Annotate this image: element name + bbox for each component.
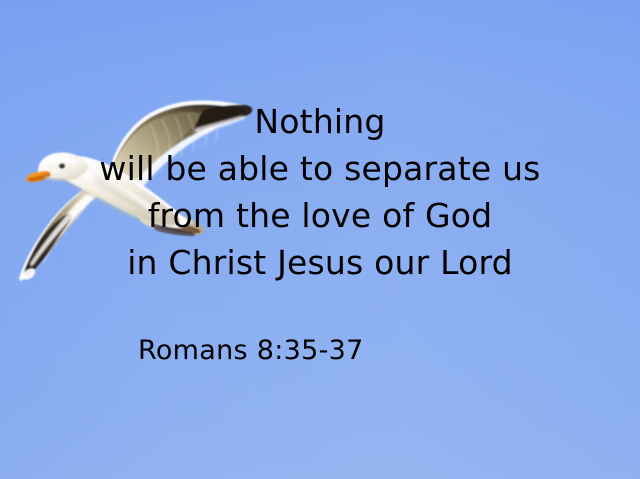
scripture-reference: Romans 8:35-37 [138, 334, 364, 368]
verse-line-3: from the love of God [0, 192, 640, 239]
verse-line-2: will be able to separate us [0, 145, 640, 192]
verse-line-4: in Christ Jesus our Lord [0, 239, 640, 286]
verse-text-block: Nothing will be able to separate us from… [0, 98, 640, 286]
verse-line-1: Nothing [0, 98, 640, 145]
scripture-image: Nothing will be able to separate us from… [0, 0, 640, 479]
